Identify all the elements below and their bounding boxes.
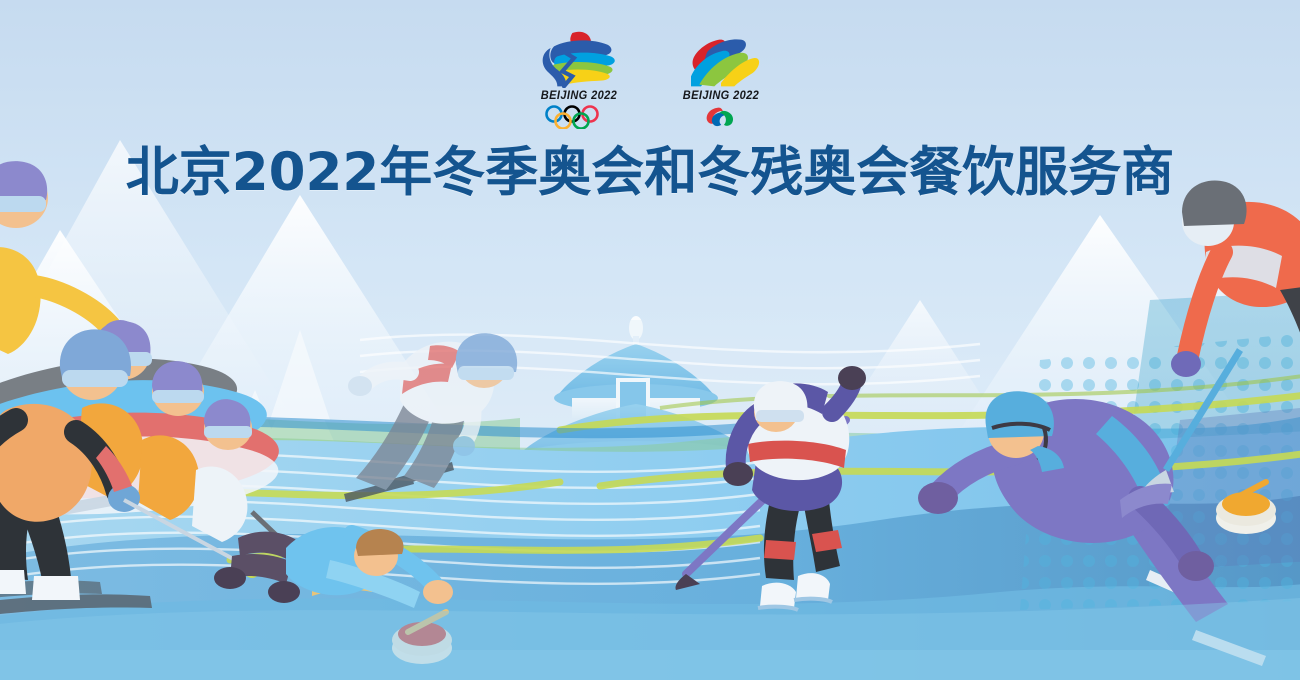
- olympic-wordmark: BEIJING 2022: [531, 90, 627, 102]
- paralympic-agitos-icon: [684, 105, 758, 129]
- ice-hockey-player: [675, 366, 866, 610]
- olympic-rings-icon: [542, 105, 616, 129]
- banner-header: BEIJING 2022: [0, 0, 1300, 225]
- speed-skater-background: [344, 333, 517, 502]
- winter-dream-emblem-icon: [529, 28, 629, 88]
- emblem-row: BEIJING 2022: [0, 28, 1300, 136]
- beijing-2022-paralympic-emblem[interactable]: BEIJING 2022: [671, 28, 771, 136]
- flying-high-emblem-icon: [671, 28, 771, 88]
- paralympic-wordmark: BEIJING 2022: [673, 90, 769, 102]
- beijing-2022-olympic-emblem[interactable]: BEIJING 2022: [529, 28, 629, 136]
- page-title: 北京2022年冬季奥会和冬残奥会餐饮服务商: [0, 146, 1300, 199]
- olympics-catering-banner: BEIJING 2022: [0, 0, 1300, 680]
